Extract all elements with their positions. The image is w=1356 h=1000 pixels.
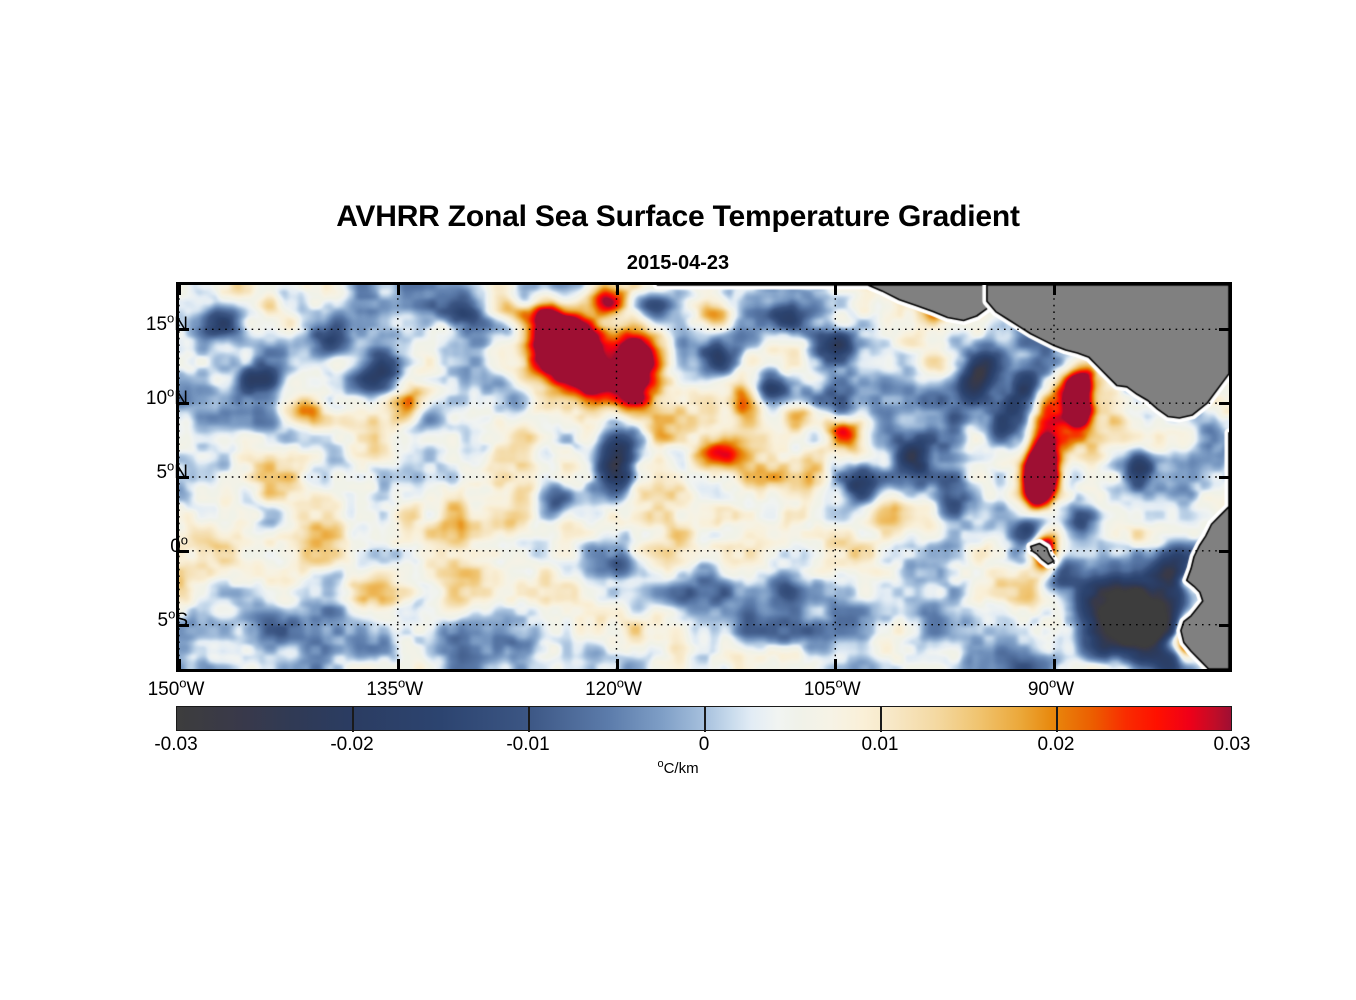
figure-canvas: AVHRR Zonal Sea Surface Temperature Grad… [0, 0, 1356, 1000]
map-axes[interactable] [176, 282, 1232, 672]
xtick-label-150w: 150oW [96, 680, 256, 699]
xtick-label-135w: 135oW [315, 680, 475, 699]
page-title: AVHRR Zonal Sea Surface Temperature Grad… [0, 200, 1356, 234]
ytick-label-5n: 5oN [68, 463, 188, 482]
figure-subtitle: 2015-04-23 [0, 252, 1356, 275]
ytick-label-5s: 5oS [68, 611, 188, 630]
colorbar-tick-2: -0.01 [448, 735, 608, 754]
ytick-label-0: 0o [68, 537, 188, 556]
colorbar-tick-4: 0.01 [800, 735, 960, 754]
colorbar-tick-6: 0.03 [1152, 735, 1312, 754]
xtick-label-90w: 90oW [971, 680, 1131, 699]
colorbar[interactable] [176, 706, 1232, 731]
ytick-label-10n: 10oN [68, 389, 188, 408]
xtick-label-120w: 120oW [534, 680, 694, 699]
map-gridlines [179, 285, 1229, 669]
colorbar-tick-0: -0.03 [96, 735, 256, 754]
colorbar-unit-label: oC/km [0, 760, 1356, 777]
colorbar-tick-1: -0.02 [272, 735, 432, 754]
ytick-label-15n: 15oN [68, 315, 188, 334]
xtick-label-105w: 105oW [752, 680, 912, 699]
colorbar-tick-3: 0 [624, 735, 784, 754]
colorbar-tick-5: 0.02 [976, 735, 1136, 754]
